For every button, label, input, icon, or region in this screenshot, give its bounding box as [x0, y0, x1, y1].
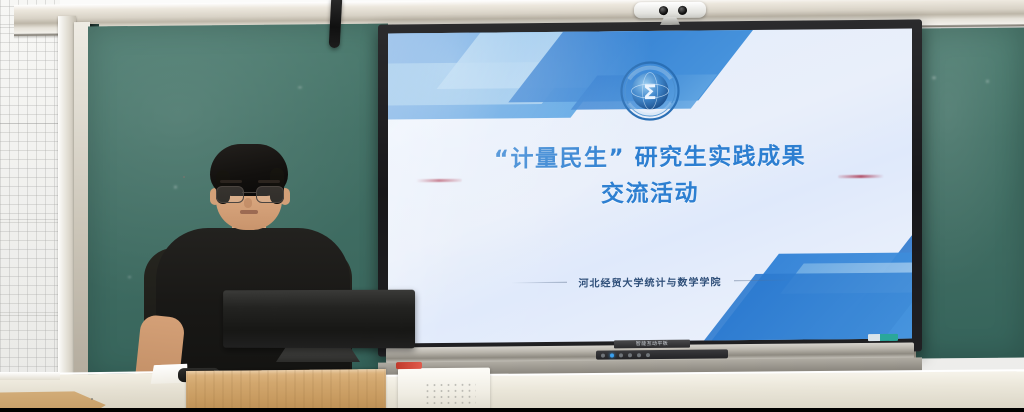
presenter-nose	[244, 198, 252, 208]
desk-screw	[91, 398, 93, 400]
monitor-panel-back	[223, 290, 415, 349]
presenter-eyebrow-left	[220, 180, 242, 183]
display-brand-plate: 智能互动平板	[614, 340, 690, 349]
microphone-body	[329, 0, 343, 48]
display-power-indicator[interactable]	[610, 353, 614, 357]
emblem-sigma-glyph: Σ	[643, 80, 657, 104]
chalk-tray	[0, 372, 60, 380]
wooden-podium-front	[186, 369, 386, 412]
subtitle-rule-left-icon	[511, 282, 567, 284]
slide-title-line-1: “计量民生” 研究生实践成果	[388, 138, 912, 179]
podium-control-speaker[interactable]	[398, 368, 490, 412]
display-control-strip[interactable]	[596, 349, 728, 359]
classroom-scene: Σ “计量民生” 研究生实践成果 交流活动 河北经贸大学统计与数学学院	[0, 0, 1024, 412]
display-control-dot[interactable]	[637, 353, 641, 357]
camera-body	[634, 2, 706, 19]
image-bottom-border	[0, 408, 1024, 412]
red-marker-object	[396, 362, 422, 369]
display-control-dot[interactable]	[619, 353, 623, 357]
display-control-dot[interactable]	[628, 353, 632, 357]
eyeglass-bridge	[242, 192, 256, 193]
board-frame-screw	[183, 176, 185, 178]
slide-subtitle-block: 河北经贸大学统计与数学学院	[388, 271, 912, 291]
camera-lens-left-icon	[659, 6, 668, 15]
camera-mount-bracket	[660, 17, 680, 25]
eyeglass-lens-left	[216, 186, 244, 203]
slide-subtitle: 河北经贸大学统计与数学学院	[579, 273, 722, 289]
title-rule-left-icon	[416, 179, 462, 182]
chalkboard-right	[916, 28, 1024, 359]
presenter-eyebrow-right	[258, 180, 280, 183]
title-rule-right-icon	[838, 175, 884, 178]
camera-lens-right-icon	[678, 6, 687, 15]
presenter-mouth	[240, 210, 258, 214]
eyeglass-lens-right	[256, 186, 284, 203]
presentation-screen[interactable]: Σ “计量民生” 研究生实践成果 交流活动 河北经贸大学统计与数学学院	[388, 28, 912, 343]
display-control-dot[interactable]	[646, 353, 650, 357]
hanging-microphone	[328, 0, 343, 52]
slide-title-block: “计量民生” 研究生实践成果 交流活动	[388, 138, 912, 214]
dual-lens-camera	[634, 2, 706, 25]
display-control-dot[interactable]	[601, 353, 605, 357]
podium-monitor[interactable]	[222, 290, 414, 362]
subtitle-rule-right-icon	[734, 280, 790, 282]
speaker-grille-icon	[424, 382, 476, 404]
slide-title-line-2: 交流活动	[388, 174, 912, 215]
display-corner-sticker	[868, 334, 898, 341]
university-emblem-logo: Σ	[620, 61, 680, 122]
